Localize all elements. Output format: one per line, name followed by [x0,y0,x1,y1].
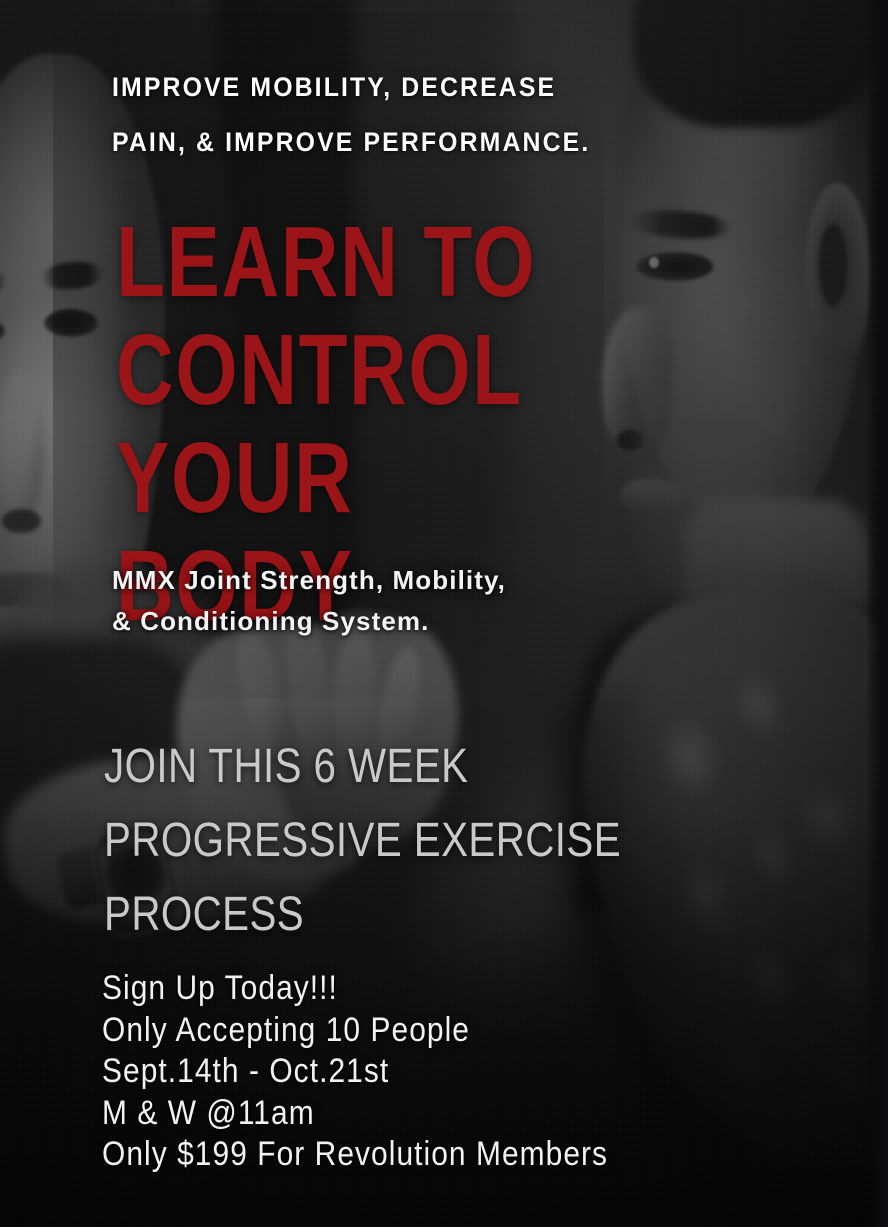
pitch-text: JOIN THIS 6 WEEK PROGRESSIVE EXERCISE PR… [104,730,625,952]
details-list: Sign Up Today!!! Only Accepting 10 Peopl… [102,968,742,1176]
poster-content: IMPROVE MOBILITY, DECREASE PAIN, & IMPRO… [0,0,888,1227]
detail-line: Only $199 For Revolution Members [102,1134,665,1176]
kicker-text: IMPROVE MOBILITY, DECREASE PAIN, & IMPRO… [112,60,664,170]
subheadline-text: MMX Joint Strength, Mobility, & Conditio… [112,560,712,642]
detail-line: M & W @11am [102,1093,665,1135]
detail-line: Sign Up Today!!! [102,968,665,1010]
detail-line: Sept.14th - Oct.21st [102,1051,665,1093]
poster-canvas: IMPROVE MOBILITY, DECREASE PAIN, & IMPRO… [0,0,888,1227]
detail-line: Only Accepting 10 People [102,1010,665,1052]
